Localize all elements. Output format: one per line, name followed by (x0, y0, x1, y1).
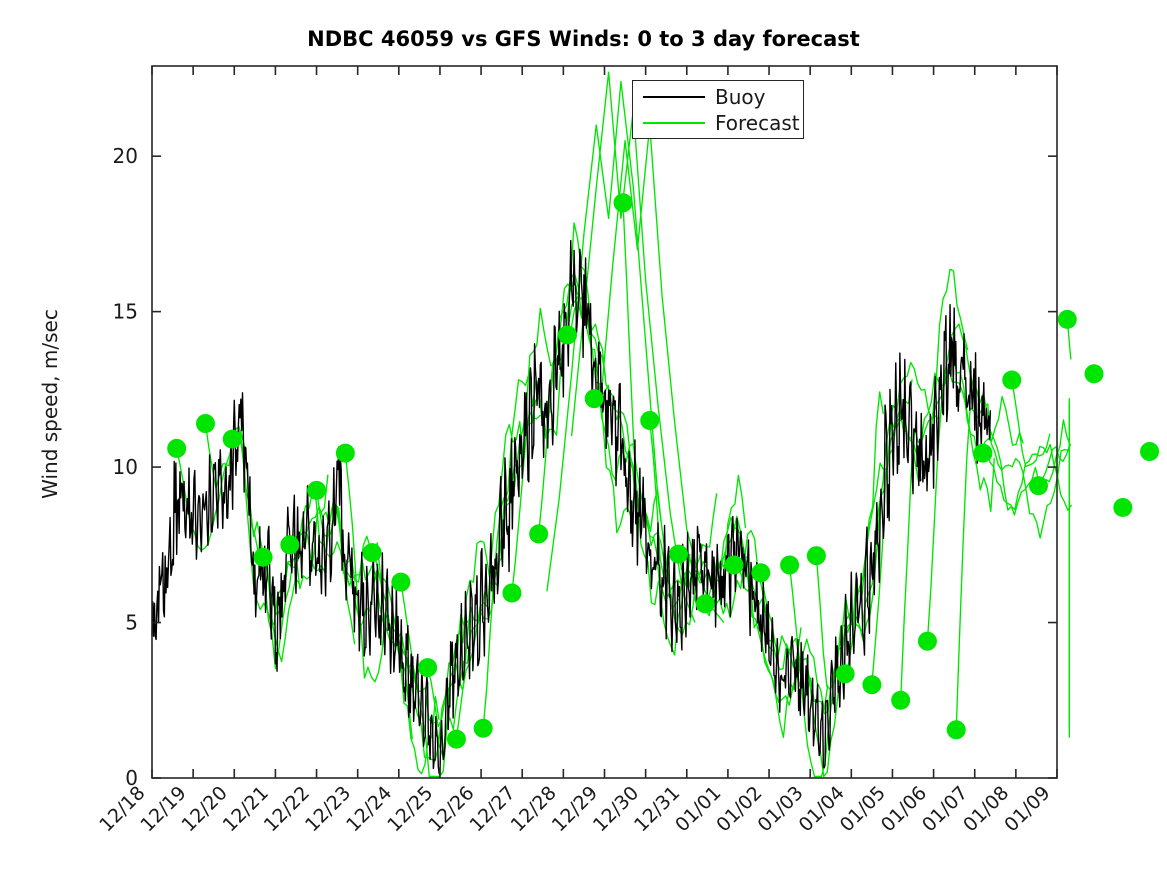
forecast-marker (725, 556, 744, 575)
y-tick-label: 15 (113, 300, 138, 324)
buoy-line (152, 241, 990, 775)
forecast-marker (947, 720, 966, 739)
forecast-marker (307, 481, 326, 500)
forecast-marker (696, 594, 715, 613)
forecast-marker (447, 730, 466, 749)
forecast-marker (529, 524, 548, 543)
x-tick-label: 12/28 (507, 782, 561, 836)
forecast-marker (807, 546, 826, 565)
x-tick-label-group: 12/1812/1912/2012/2112/2212/2312/2412/25… (95, 782, 1054, 836)
forecast-marker (640, 411, 659, 430)
forecast-marker (363, 543, 382, 562)
chart-canvas: 05101520 12/1812/1912/2012/2112/2212/231… (0, 0, 1167, 875)
legend-item-buoy: Buoy (633, 84, 805, 110)
x-tick-label: 01/09 (1000, 782, 1054, 836)
x-tick-label: 12/18 (95, 782, 149, 836)
plot-area: 05101520 12/1812/1912/2012/2112/2212/231… (0, 0, 1167, 875)
forecast-marker (614, 193, 633, 212)
forecast-marker (1029, 476, 1048, 495)
legend-label-buoy: Buoy (715, 84, 765, 110)
forecast-marker (502, 584, 521, 603)
forecast-marker (254, 548, 273, 567)
x-tick-label: 12/27 (465, 782, 519, 836)
forecast-marker (585, 389, 604, 408)
y-tick-label: 5 (125, 611, 138, 635)
y-tick-label-group: 05101520 (113, 144, 138, 790)
x-tick-label: 12/31 (630, 782, 684, 836)
x-tick-label: 12/23 (301, 782, 355, 836)
x-tick-label: 01/01 (671, 782, 725, 836)
forecast-marker (167, 439, 186, 458)
forecast-marker (1113, 498, 1132, 517)
forecast-marker (558, 325, 577, 344)
y-tick-label: 20 (113, 144, 138, 168)
forecast-marker (418, 658, 437, 677)
forecast-marker (751, 563, 770, 582)
legend-label-forecast: Forecast (715, 110, 800, 136)
forecast-line (317, 490, 439, 773)
x-tick-label: 01/06 (877, 782, 931, 836)
forecast-marker (336, 444, 355, 463)
forecast-marker (280, 535, 299, 554)
forecast-marker (836, 664, 855, 683)
buoy-line-group (152, 241, 990, 775)
x-tick-label: 12/26 (424, 782, 478, 836)
forecast-marker (669, 545, 688, 564)
forecast-marker (891, 691, 910, 710)
x-tick-label: 12/22 (260, 782, 314, 836)
forecast-marker (973, 444, 992, 463)
forecast-marker (780, 556, 799, 575)
forecast-marker (196, 414, 215, 433)
forecast-marker (862, 675, 881, 694)
x-tick-label: 12/20 (178, 782, 232, 836)
legend-swatch-forecast (643, 122, 705, 124)
chart-page: NDBC 46059 vs GFS Winds: 0 to 3 day fore… (0, 0, 1167, 875)
y-tick-label: 10 (113, 455, 138, 479)
x-tick-label: 01/05 (836, 782, 890, 836)
legend-item-forecast: Forecast (633, 110, 805, 136)
x-tick-label: 01/03 (753, 782, 807, 836)
forecast-marker (391, 573, 410, 592)
x-tick-label: 12/30 (589, 782, 643, 836)
forecast-marker (1058, 310, 1077, 329)
x-tick-label: 12/24 (342, 782, 396, 836)
x-tick-label: 12/21 (219, 782, 273, 836)
x-tick-label: 12/29 (548, 782, 602, 836)
x-tick-label: 01/02 (712, 782, 766, 836)
forecast-marker (1002, 371, 1021, 390)
x-tick-label: 12/25 (383, 782, 437, 836)
forecast-marker-group (167, 193, 1167, 748)
chart-legend: Buoy Forecast (632, 80, 804, 139)
forecast-marker (474, 719, 493, 738)
x-tick-label: 01/08 (959, 782, 1013, 836)
x-tick-label: 01/04 (795, 782, 849, 836)
x-tick-label: 01/07 (918, 782, 972, 836)
legend-swatch-buoy (643, 96, 705, 98)
forecast-marker (918, 632, 937, 651)
forecast-marker (1140, 442, 1159, 461)
forecast-line (901, 355, 1023, 700)
x-tick-label: 12/19 (136, 782, 190, 836)
forecast-marker (223, 430, 242, 449)
forecast-marker (1085, 364, 1104, 383)
